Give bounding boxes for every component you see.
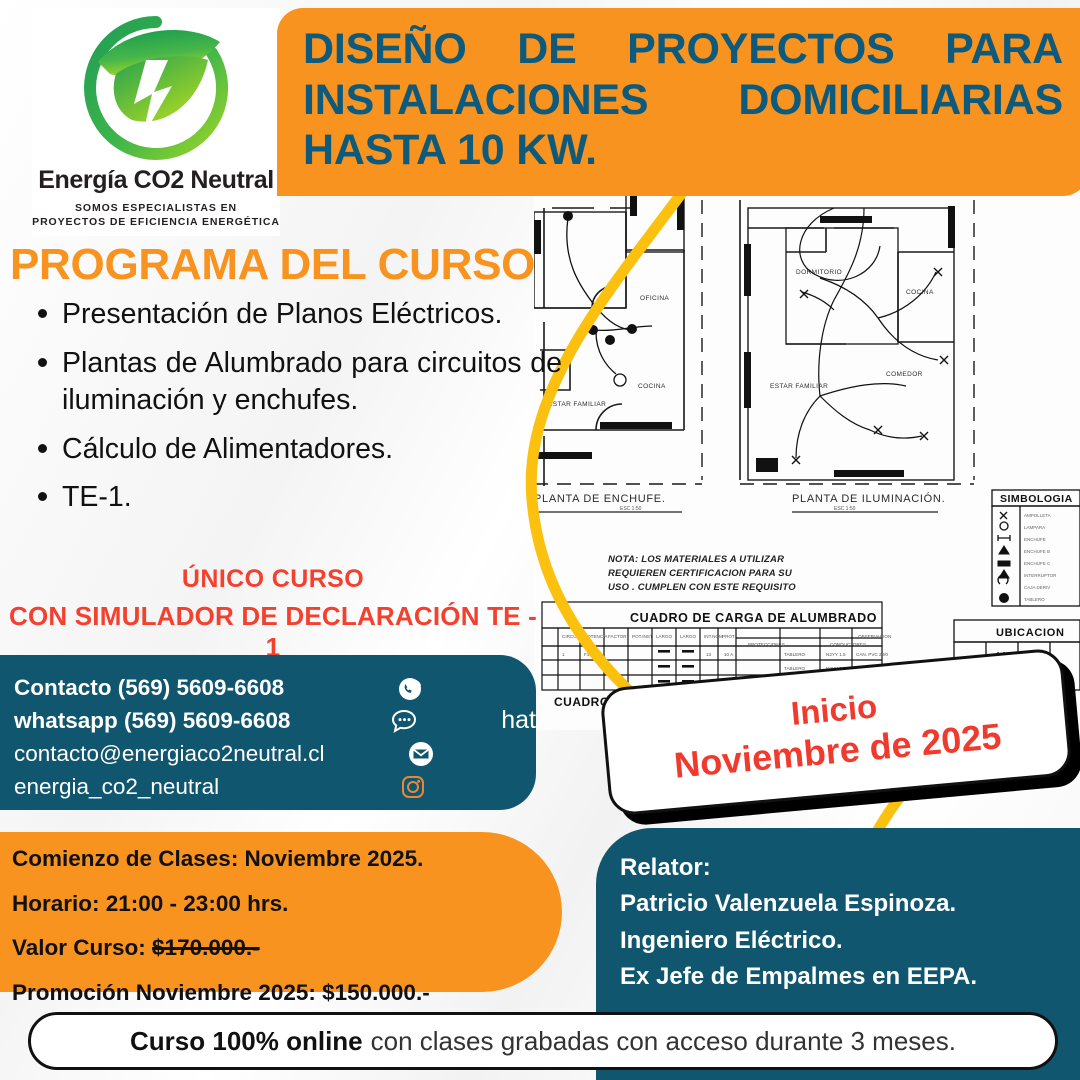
pricing-box: Comienzo de Clases: Noviembre 2025. Hora… [0, 832, 562, 992]
svg-text:POT.INST: POT.INST [632, 634, 653, 639]
green-leaf-circle-logo [76, 12, 236, 164]
svg-text:COMEDOR: COMEDOR [886, 371, 923, 378]
svg-text:DORMITORIO: DORMITORIO [796, 269, 842, 276]
list-item: Plantas de Alumbrado para circuitos de i… [62, 345, 562, 420]
svg-text:AMPOLLETA: AMPOLLETA [1024, 513, 1051, 518]
program-list: Presentación de Planos Eléctricos. Plant… [30, 296, 562, 528]
contact-whatsapp-row[interactable]: whatsapp (569) 5609-6608 hat [14, 704, 536, 737]
chat-word-label: hat [501, 706, 536, 735]
title-line-3: HASTA 10 KW. [303, 125, 1063, 176]
footer-rest-text: con clases grabadas con acceso durante 3… [371, 1026, 956, 1057]
logo-tagline: SOMOS ESPECIALISTAS EN PROYECTOS DE EFIC… [32, 201, 280, 229]
contact-email-row[interactable]: contacto@energiaco2neutral.cl [14, 737, 536, 770]
brand-logo-card: Energía CO2 Neutral SOMOS ESPECIALISTAS … [32, 8, 280, 236]
svg-text:TABLERO: TABLERO [784, 652, 806, 657]
logo-tagline-line1: SOMOS ESPECIALISTAS EN [75, 202, 237, 214]
envelope-icon [400, 737, 442, 770]
svg-text:INT.NOM: INT.NOM [704, 634, 723, 639]
svg-text:CAJA DERIV: CAJA DERIV [1024, 585, 1050, 590]
pricing-value-label: Valor Curso: [12, 935, 146, 960]
logo-tagline-line2: PROYECTOS DE EFICIENCIA ENERGÉTICA [32, 216, 280, 228]
svg-text:UBICACION: UBICACION [996, 627, 1065, 639]
chat-bubble-icon [383, 704, 425, 737]
promo-simulator-line: CON SIMULADOR DE DECLARACIÓN TE - 1 [0, 601, 546, 663]
svg-text:N2YY 1.5: N2YY 1.5 [826, 652, 846, 657]
svg-text:13: 13 [706, 652, 712, 657]
contact-email-label: contacto@energiaco2neutral.cl [14, 741, 325, 767]
pricing-start-date: Comienzo de Clases: Noviembre 2025. [12, 848, 562, 871]
speaker-experience: Ex Jefe de Empalmes en EEPA. [620, 959, 1080, 995]
svg-text:ENCHUFE B: ENCHUFE B [1024, 549, 1050, 554]
list-item: TE-1. [62, 479, 562, 517]
contact-instagram-row[interactable]: energia_co2_neutral [14, 770, 536, 803]
program-item-3: Cálculo de Alimentadores. [62, 433, 393, 465]
speaker-name: Patricio Valenzuela Espinoza. [620, 886, 1080, 922]
svg-text:LARGO: LARGO [656, 634, 673, 639]
contact-instagram-label: energia_co2_neutral [14, 774, 219, 800]
program-item-2: Plantas de Alumbrado para circuitos de i… [62, 345, 562, 420]
contact-whatsapp-label: whatsapp (569) 5609-6608 [14, 708, 290, 734]
svg-text:1: 1 [562, 652, 565, 657]
logo-wordmark: Energía CO2 Neutral [38, 166, 274, 195]
plan-right-label: PLANTA DE ILUMINACIÓN. [792, 492, 945, 505]
instagram-icon [392, 770, 434, 803]
course-title-banner: DISEÑO DE PROYECTOS PARA INSTALACIONES D… [277, 8, 1080, 196]
list-item: Cálculo de Alimentadores. [62, 431, 562, 469]
svg-text:CUADRO DE CARGA DE ALUMBRADO: CUADRO DE CARGA DE ALUMBRADO [630, 611, 877, 625]
svg-text:ESC 1:50: ESC 1:50 [834, 506, 856, 512]
svg-text:LARGO: LARGO [680, 634, 697, 639]
svg-text:TABLERO: TABLERO [1024, 597, 1045, 602]
title-line-2: INSTALACIONES DOMICILIARIAS [303, 75, 1063, 126]
svg-text:PROT.: PROT. [722, 634, 736, 639]
svg-text:F1: F1 [584, 652, 590, 657]
program-item-4: TE-1. [62, 481, 132, 513]
svg-text:CIRCUITO: CIRCUITO [562, 634, 585, 639]
svg-text:POTENCIA: POTENCIA [584, 634, 608, 639]
svg-text:SIMBOLOGIA: SIMBOLOGIA [1000, 493, 1073, 505]
svg-text:CAN. PVC 20/0: CAN. PVC 20/0 [856, 652, 888, 657]
svg-text:COCINA: COCINA [638, 383, 666, 390]
phone-ring-icon [390, 671, 432, 704]
svg-text:CONDUCTORES: CONDUCTORES [830, 642, 866, 647]
svg-text:COCINA: COCINA [906, 289, 934, 296]
pricing-value-row: Valor Curso: $170.000.- [12, 937, 562, 960]
svg-text:NOTA: LOS MATERIALES A UTILIZA: NOTA: LOS MATERIALES A UTILIZAR [608, 554, 784, 565]
pricing-promo-price: Promoción Noviembre 2025: $150.000.- [12, 982, 562, 1005]
svg-text:ESC 1:50: ESC 1:50 [620, 506, 642, 512]
promo-unique-line: ÚNICO CURSO [0, 565, 546, 594]
poster-root: OFICINA COCINA ESTAR FAMILIAR DORMITORIO… [0, 0, 1080, 1080]
svg-text:USO . CUMPLEN CON ESTE REQUISI: USO . CUMPLEN CON ESTE REQUISITO [608, 582, 796, 593]
contact-phone-row[interactable]: Contacto (569) 5609-6608 [14, 671, 536, 704]
speaker-role: Ingeniero Eléctrico. [620, 923, 1080, 959]
contact-box: Contacto (569) 5609-6608 whatsapp (569) … [0, 655, 536, 810]
svg-text:OBSERVACION: OBSERVACION [858, 634, 891, 639]
speaker-label: Relator: [620, 850, 1080, 886]
title-line-1: DISEÑO DE PROYECTOS PARA [303, 24, 1063, 75]
svg-text:10 A: 10 A [724, 652, 734, 657]
svg-text:REQUIEREN CERTIFICACION PARA S: REQUIEREN CERTIFICACION PARA SU [608, 568, 793, 579]
svg-text:ENCHUFE C: ENCHUFE C [1024, 561, 1051, 566]
svg-text:FACTOR: FACTOR [608, 634, 627, 639]
program-heading: PROGRAMA DEL CURSO [10, 240, 535, 290]
footer-banner: Curso 100% online con clases grabadas co… [28, 1012, 1058, 1070]
svg-text:LAMPARA: LAMPARA [1024, 525, 1045, 530]
list-item: Presentación de Planos Eléctricos. [62, 296, 562, 334]
pricing-old-price: $170.000.- [152, 935, 260, 960]
pricing-schedule: Horario: 21:00 - 23:00 hrs. [12, 893, 562, 916]
electrical-blueprint-image: OFICINA COCINA ESTAR FAMILIAR DORMITORIO… [534, 190, 1080, 730]
program-item-1: Presentación de Planos Eléctricos. [62, 296, 562, 334]
svg-text:INTERRUPTOR: INTERRUPTOR [1024, 573, 1057, 578]
svg-text:OFICINA: OFICINA [640, 295, 669, 302]
svg-text:ESTAR FAMILIAR: ESTAR FAMILIAR [770, 383, 828, 390]
svg-text:PROTECCIONES: PROTECCIONES [748, 642, 785, 647]
footer-bold-text: Curso 100% online [130, 1026, 363, 1057]
svg-text:ENCHUFE: ENCHUFE [1024, 537, 1046, 542]
contact-phone-label: Contacto (569) 5609-6608 [14, 675, 284, 701]
